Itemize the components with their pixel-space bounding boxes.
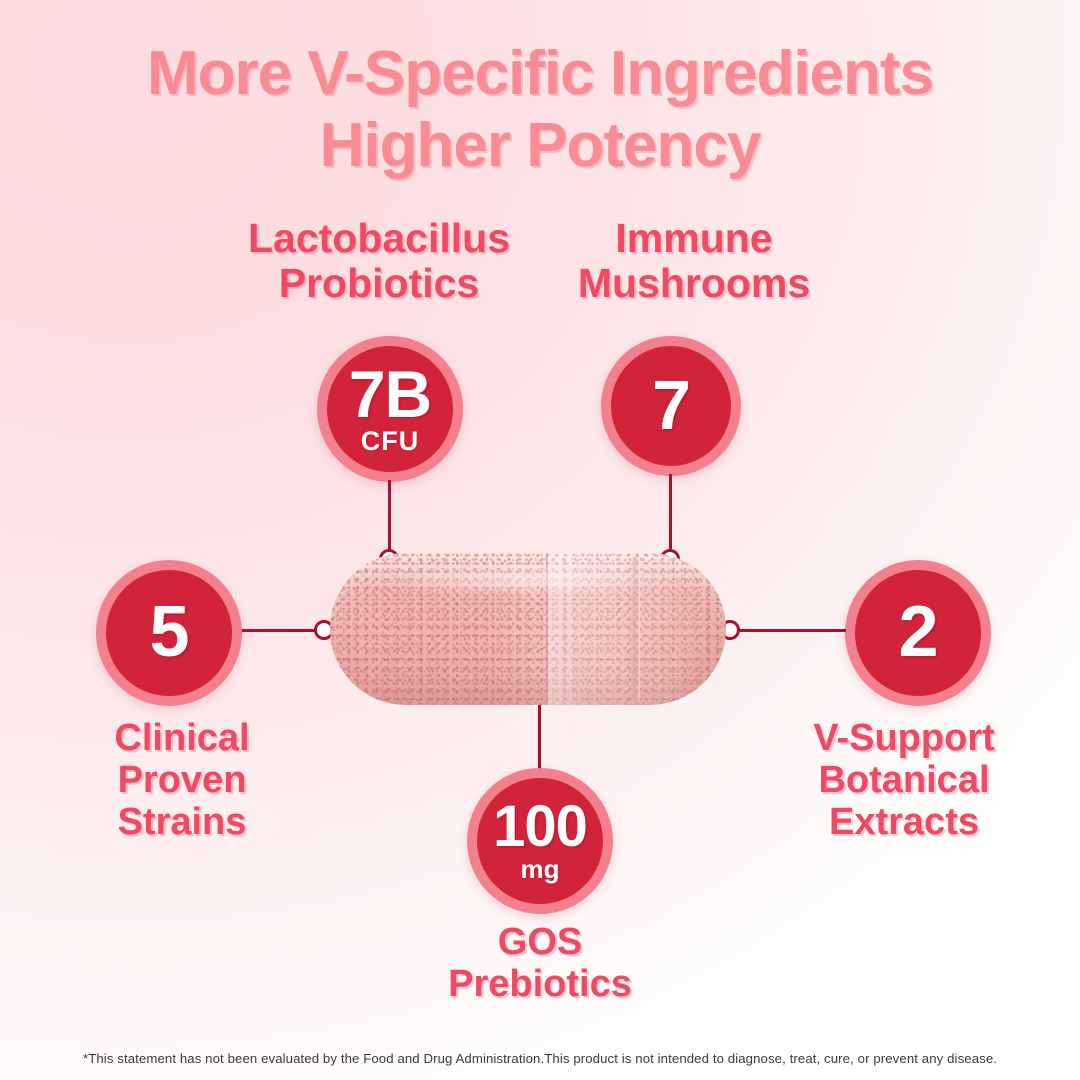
callout-label-line: Extracts: [780, 802, 1028, 844]
callout-label-line: Probiotics: [214, 261, 544, 306]
callout-label-line: Prebiotics: [400, 964, 680, 1006]
callout-badge-number: 100: [493, 800, 587, 855]
callout-label-line: GOS: [400, 922, 680, 964]
capsule-highlight: [354, 563, 694, 597]
connector-line-v-support-botanical-extracts: [730, 629, 846, 632]
callout-badge-number: 7B: [349, 363, 431, 425]
callout-badge-unit: CFU: [361, 428, 420, 455]
capsule-pill-icon: [330, 553, 726, 705]
callout-label-line: Clinical: [62, 718, 302, 760]
connector-line-clinical-proven-strains: [242, 629, 324, 632]
callout-label-immune-mushrooms: Immune Mushrooms: [548, 216, 840, 306]
capsule-body: [330, 553, 726, 705]
headline-line-1: More V-Specific Ingredients: [0, 38, 1080, 110]
callout-label-line: V-Support: [780, 718, 1028, 760]
callout-badge-unit: mg: [521, 856, 560, 882]
callout-label-v-support-botanical-extracts: V-Support Botanical Extracts: [780, 718, 1028, 843]
callout-label-line: Strains: [62, 802, 302, 844]
callout-label-line: Proven: [62, 760, 302, 802]
callout-badge-lactobacillus-probiotics: 7B CFU: [317, 336, 463, 482]
headline: More V-Specific Ingredients Higher Poten…: [0, 38, 1080, 182]
callout-label-gos-prebiotics: GOS Prebiotics: [400, 922, 680, 1006]
callout-label-line: Lactobacillus: [214, 216, 544, 261]
callout-label-line: Immune: [548, 216, 840, 261]
ingredients-infographic: More V-Specific Ingredients Higher Poten…: [0, 0, 1080, 1080]
callout-badge-immune-mushrooms: 7: [601, 336, 741, 476]
fda-disclaimer: *This statement has not been evaluated b…: [0, 1051, 1080, 1066]
callout-label-line: Mushrooms: [548, 261, 840, 306]
callout-label-line: Botanical: [780, 760, 1028, 802]
callout-label-clinical-proven-strains: Clinical Proven Strains: [62, 718, 302, 843]
callout-badge-number: 2: [898, 599, 937, 667]
connector-line-immune-mushrooms: [669, 474, 672, 558]
callout-badge-v-support-botanical-extracts: 2: [845, 560, 991, 706]
callout-badge-clinical-proven-strains: 5: [96, 560, 242, 706]
callout-label-lactobacillus-probiotics: Lactobacillus Probiotics: [214, 216, 544, 306]
callout-badge-number: 7: [652, 373, 690, 439]
callout-badge-gos-prebiotics: 100 mg: [467, 768, 613, 914]
connector-line-lactobacillus-probiotics: [388, 480, 391, 558]
headline-line-2: Higher Potency: [0, 110, 1080, 182]
callout-badge-number: 5: [149, 599, 188, 667]
